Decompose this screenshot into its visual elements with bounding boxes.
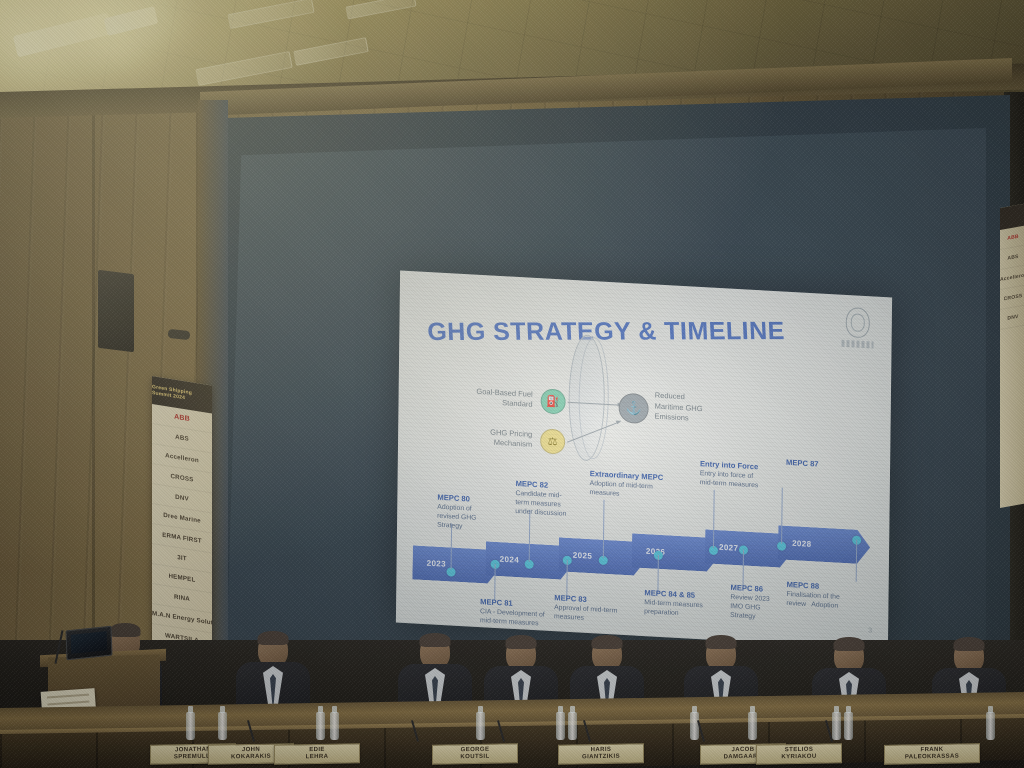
wall-seam: [92, 92, 95, 692]
ghg-strategy-diagram: Goal-Based FuelStandard ⛽ GHG PricingMec…: [450, 369, 741, 477]
milestone-below-4: MEPC 88 Finalisation of thereview Adopti…: [786, 580, 858, 612]
diagram-input-2-label: GHG PricingMechanism: [450, 425, 532, 449]
water-bottle: [330, 712, 339, 740]
water-bottle: [316, 712, 325, 740]
milestone-body: Adoption ofrevised GHGStrategy: [437, 504, 511, 535]
water-bottle: [986, 712, 995, 740]
milestone-below-3: MEPC 86 Review 2023IMO GHGStrategy: [730, 583, 780, 623]
nameplate-line2: KYRIAKOU: [781, 754, 816, 762]
milestone-above-4: MEPC 87: [786, 458, 860, 473]
classification-society-seal-logo: [841, 307, 873, 349]
fuel-standard-icon: ⛽: [540, 388, 565, 414]
nameplate-line2: LEHRA: [306, 754, 329, 761]
milestone-body: Review 2023IMO GHGStrategy: [730, 594, 780, 623]
timeline-year-2025: 2025: [573, 551, 593, 561]
milestone-heading: MEPC 87: [786, 458, 860, 472]
milestone-body: Entry into force ofmid-term measures: [700, 470, 780, 492]
diagram-output-label: ReducedMaritime GHGEmissions: [654, 391, 740, 428]
milestone-body: Mid-term measurespreparation: [644, 599, 720, 621]
slide-page-number: 3: [868, 627, 872, 634]
water-bottle: [218, 712, 227, 740]
milestone-body: Candidate mid-term measuresunder discuss…: [515, 490, 589, 521]
panelist-hair: [258, 631, 289, 645]
timeline-year-2023: 2023: [427, 559, 447, 569]
speaker-hair: [110, 623, 141, 637]
milestone-above-2: Extraordinary MEPC Adoption of mid-termm…: [590, 469, 676, 502]
timeline-stem: [566, 560, 567, 598]
water-bottle: [844, 712, 853, 740]
milestone-above-3: Entry into Force Entry into force ofmid-…: [700, 459, 780, 492]
nameplate-line2: GIANTZIKIS: [582, 754, 620, 762]
nameplate-edie-lehra: EDIE LEHRA: [274, 743, 360, 765]
panelist-hair: [506, 635, 537, 649]
milestone-body: Finalisation of thereview Adoption: [786, 591, 858, 613]
water-bottle: [832, 712, 841, 740]
diagram-input-1-label: Goal-Based FuelStandard: [451, 385, 533, 409]
nameplate-line2: KOKARAKIS: [231, 754, 271, 762]
timeline-year-2027: 2027: [719, 543, 739, 553]
panelist-hair: [834, 637, 865, 651]
lens-shape-inner: [578, 336, 609, 460]
scales-balance-icon: ⚖: [540, 428, 565, 454]
sponsor-logo-dnv-right: DNV: [1000, 305, 1024, 330]
nameplate-line2: PALEOKRASSAS: [905, 754, 959, 762]
milestone-below-0: MEPC 81 CIA - Development ofmid-term mea…: [480, 597, 560, 630]
milestone-body: CIA - Development ofmid-term measures: [480, 608, 560, 630]
nameplate-george-koutsil: GEORGE KOUTSIL: [432, 743, 518, 765]
panelist-hair: [954, 637, 985, 651]
milestone-above-0: MEPC 80 Adoption ofrevised GHGStrategy: [437, 493, 511, 534]
milestone-below-2: MEPC 84 & 85 Mid-term measurespreparatio…: [644, 588, 720, 621]
timeline-stem: [657, 555, 658, 593]
nameplate-frank-paleokrassas: FRANK PALEOKRASSAS: [884, 743, 980, 765]
panelist-hair: [592, 635, 623, 649]
timeline-year-2024: 2024: [500, 555, 520, 565]
sponsor-banner-header-text: Green Shipping Summit 2024: [152, 384, 212, 406]
ghg-timeline: 2023 2024 2025 2026 2027 2028: [412, 467, 876, 632]
water-bottle: [556, 712, 565, 740]
milestone-below-1: MEPC 83 Approval of mid-termmeasures: [554, 593, 632, 626]
panelist-hair: [706, 635, 737, 649]
timeline-stem: [494, 564, 495, 600]
nameplate-stelios-kyriakou: STELIOS KYRIAKOU: [756, 743, 842, 765]
podium-laptop: [65, 626, 112, 661]
timeline-year-2028: 2028: [792, 539, 812, 549]
water-bottle: [748, 712, 757, 740]
conference-hall-scene: GHG STRATEGY & TIMELINE Goal-Based FuelS…: [0, 0, 1024, 768]
nameplate-haris-giantzikis: HARIS GIANTZIKIS: [558, 743, 644, 765]
wall-speaker: [98, 270, 134, 352]
milestone-body: Approval of mid-termmeasures: [554, 604, 632, 626]
ship-emissions-icon: ⚓: [618, 393, 648, 425]
panelist-hair: [420, 633, 451, 647]
projection-screen: GHG STRATEGY & TIMELINE Goal-Based FuelS…: [396, 270, 892, 649]
milestone-body: Adoption of mid-termmeasures: [590, 480, 676, 502]
milestone-above-1: MEPC 82 Candidate mid-term measuresunder…: [515, 479, 589, 520]
nameplate-line2: SPREMULLI: [174, 754, 212, 762]
water-bottle: [568, 712, 577, 740]
slide-title: GHG STRATEGY & TIMELINE: [427, 317, 786, 347]
nameplate-line2: KOUTSIL: [460, 754, 489, 761]
water-bottle: [186, 712, 195, 740]
water-bottle: [476, 712, 485, 740]
timeline-stem: [743, 550, 744, 586]
sponsor-banner-right: ABB ABS Accelleron CROSS DNV: [1000, 203, 1024, 508]
